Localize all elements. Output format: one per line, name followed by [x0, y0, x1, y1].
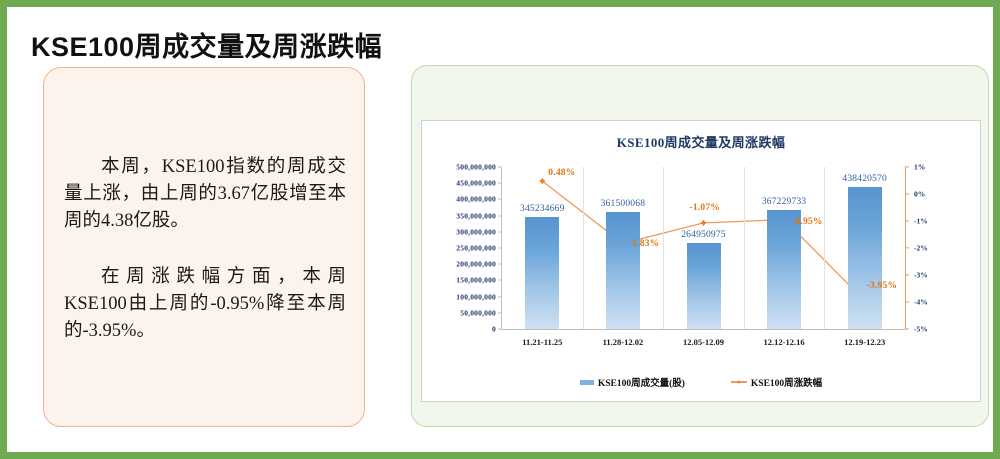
left-axis-tick-label: 100,000,000 [456, 292, 496, 301]
summary-paragraph-1: 本周，KSE100指数的周成交量上涨，由上周的3.67亿股增至本周的4.38亿股… [64, 154, 346, 235]
line-point-label: -1.07% [690, 203, 721, 213]
chart-title: KSE100周成交量及周涨跌幅 [422, 132, 980, 151]
left-axis-tick-label: 50,000,000 [460, 308, 496, 317]
legend-item-change[interactable]: KSE100周涨跌幅 [731, 375, 822, 389]
left-axis-tick-label: 300,000,000 [456, 227, 496, 236]
right-axis-tick-label: -4% [914, 298, 928, 307]
bar-value-label: 264950975 [681, 230, 726, 240]
right-axis-tick-label: -1% [914, 217, 928, 226]
right-axis-tick-mark [905, 247, 909, 248]
left-axis-tick-label: 250,000,000 [456, 244, 496, 253]
right-axis-tick-label: 1% [914, 163, 925, 172]
left-axis-tick-mark [498, 296, 502, 297]
category-separator-line [583, 167, 584, 329]
left-axis-tick-mark [498, 312, 502, 313]
x-axis-tick-label: 12.12-12.16 [764, 337, 805, 347]
chart-legend: KSE100周成交量(股) KSE100周涨跌幅 [422, 375, 980, 389]
left-axis-tick-label: 150,000,000 [456, 276, 496, 285]
line-point-label: 0.48% [548, 168, 575, 178]
right-axis-tick-label: -3% [914, 271, 928, 280]
bar-value-label: 361500068 [601, 199, 646, 209]
bar-3[interactable] [687, 243, 721, 329]
line-point-label: -1.83% [629, 239, 660, 249]
bar-value-label: 345234669 [520, 204, 565, 214]
right-axis-tick-mark [905, 274, 909, 275]
line-point-label: -3.95% [867, 281, 898, 291]
line-marker-swatch-icon [731, 378, 747, 386]
page-title: KSE100周成交量及周涨跌幅 [31, 25, 382, 64]
legend-item-volume[interactable]: KSE100周成交量(股) [580, 375, 685, 389]
bar-5[interactable] [848, 187, 882, 329]
chart-panel: KSE100周成交量及周涨跌幅 500,000,000450,000,00040… [411, 65, 989, 427]
x-axis-tick-label: 12.19-12.23 [844, 337, 885, 347]
summary-paragraph-2: 在周涨跌幅方面，本周KSE100由上周的-0.95%降至本周的-3.95%。 [64, 264, 346, 345]
x-axis-tick-label: 11.21-11.25 [522, 337, 562, 347]
chart-card: KSE100周成交量及周涨跌幅 500,000,000450,000,00040… [421, 120, 981, 402]
left-axis-tick-mark [498, 215, 502, 216]
bar-2[interactable] [606, 212, 640, 329]
right-axis-tick-mark [905, 166, 909, 167]
left-axis-tick-label: 450,000,000 [456, 179, 496, 188]
bar-value-label: 367229733 [762, 197, 807, 207]
bar-1[interactable] [525, 217, 559, 329]
legend-label-volume: KSE100周成交量(股) [598, 375, 685, 389]
right-axis-tick-mark [905, 220, 909, 221]
left-axis-tick-mark [498, 280, 502, 281]
left-axis-tick-label: 200,000,000 [456, 260, 496, 269]
line-point-label: -0.95% [792, 217, 823, 227]
left-axis-tick-label: 400,000,000 [456, 195, 496, 204]
right-axis-tick-mark [905, 301, 909, 302]
chart-plot-area: 500,000,000450,000,000400,000,000350,000… [502, 167, 905, 329]
left-axis-tick-label: 0 [492, 325, 496, 334]
category-separator-line [663, 167, 664, 329]
summary-text-panel: 本周，KSE100指数的周成交量上涨，由上周的3.67亿股增至本周的4.38亿股… [43, 67, 365, 427]
left-axis-tick-label: 350,000,000 [456, 211, 496, 220]
category-separator-line [824, 167, 825, 329]
left-axis-tick-mark [498, 231, 502, 232]
left-axis-tick-mark [498, 199, 502, 200]
left-axis-tick-mark [498, 167, 502, 168]
right-axis-tick-mark [905, 328, 909, 329]
category-separator-line [744, 167, 745, 329]
left-axis-tick-label: 500,000,000 [456, 163, 496, 172]
bar-4[interactable] [767, 210, 801, 329]
x-axis-tick-label: 11.28-12.02 [603, 337, 644, 347]
left-axis-tick-mark [498, 329, 502, 330]
right-axis-tick-label: 0% [914, 190, 925, 199]
slide-root: KSE100周成交量及周涨跌幅 本周，KSE100指数的周成交量上涨，由上周的3… [0, 0, 1000, 459]
right-axis-tick-mark [905, 193, 909, 194]
right-axis-tick-label: -2% [914, 244, 928, 253]
category-axis-line [501, 329, 906, 330]
left-axis-tick-mark [498, 183, 502, 184]
left-axis-tick-mark [498, 264, 502, 265]
left-axis-tick-mark [498, 248, 502, 249]
bar-value-label: 438420570 [842, 174, 887, 184]
x-axis-tick-label: 12.05-12.09 [683, 337, 724, 347]
legend-label-change: KSE100周涨跌幅 [751, 375, 822, 389]
right-axis-tick-label: -5% [914, 325, 928, 334]
bar-swatch-icon [580, 380, 594, 385]
